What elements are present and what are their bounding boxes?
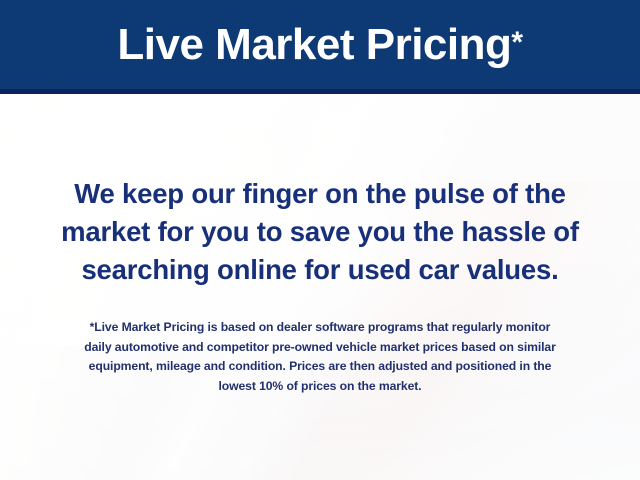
page-title-text: Live Market Pricing xyxy=(117,20,511,70)
disclaimer-line-3: equipment, mileage and condition. Prices… xyxy=(24,357,616,377)
disclaimer-line-1: *Live Market Pricing is based on dealer … xyxy=(24,318,616,338)
headline-line-2: market for you to save you the hassle of xyxy=(26,213,614,251)
headline-message: We keep our finger on the pulse of the m… xyxy=(0,175,640,289)
disclaimer-footnote: *Live Market Pricing is based on dealer … xyxy=(0,318,640,396)
disclaimer-line-4: lowest 10% of prices on the market. xyxy=(24,377,616,397)
headline-line-3: searching online for used car values. xyxy=(26,251,614,289)
disclaimer-line-2: daily automotive and competitor pre-owne… xyxy=(24,338,616,358)
page-title: Live Market Pricing* xyxy=(0,0,640,89)
live-market-pricing-promo-card: Live Market Pricing* We keep our finger … xyxy=(0,0,640,480)
header-divider-rule xyxy=(0,89,640,94)
headline-line-1: We keep our finger on the pulse of the xyxy=(26,175,614,213)
